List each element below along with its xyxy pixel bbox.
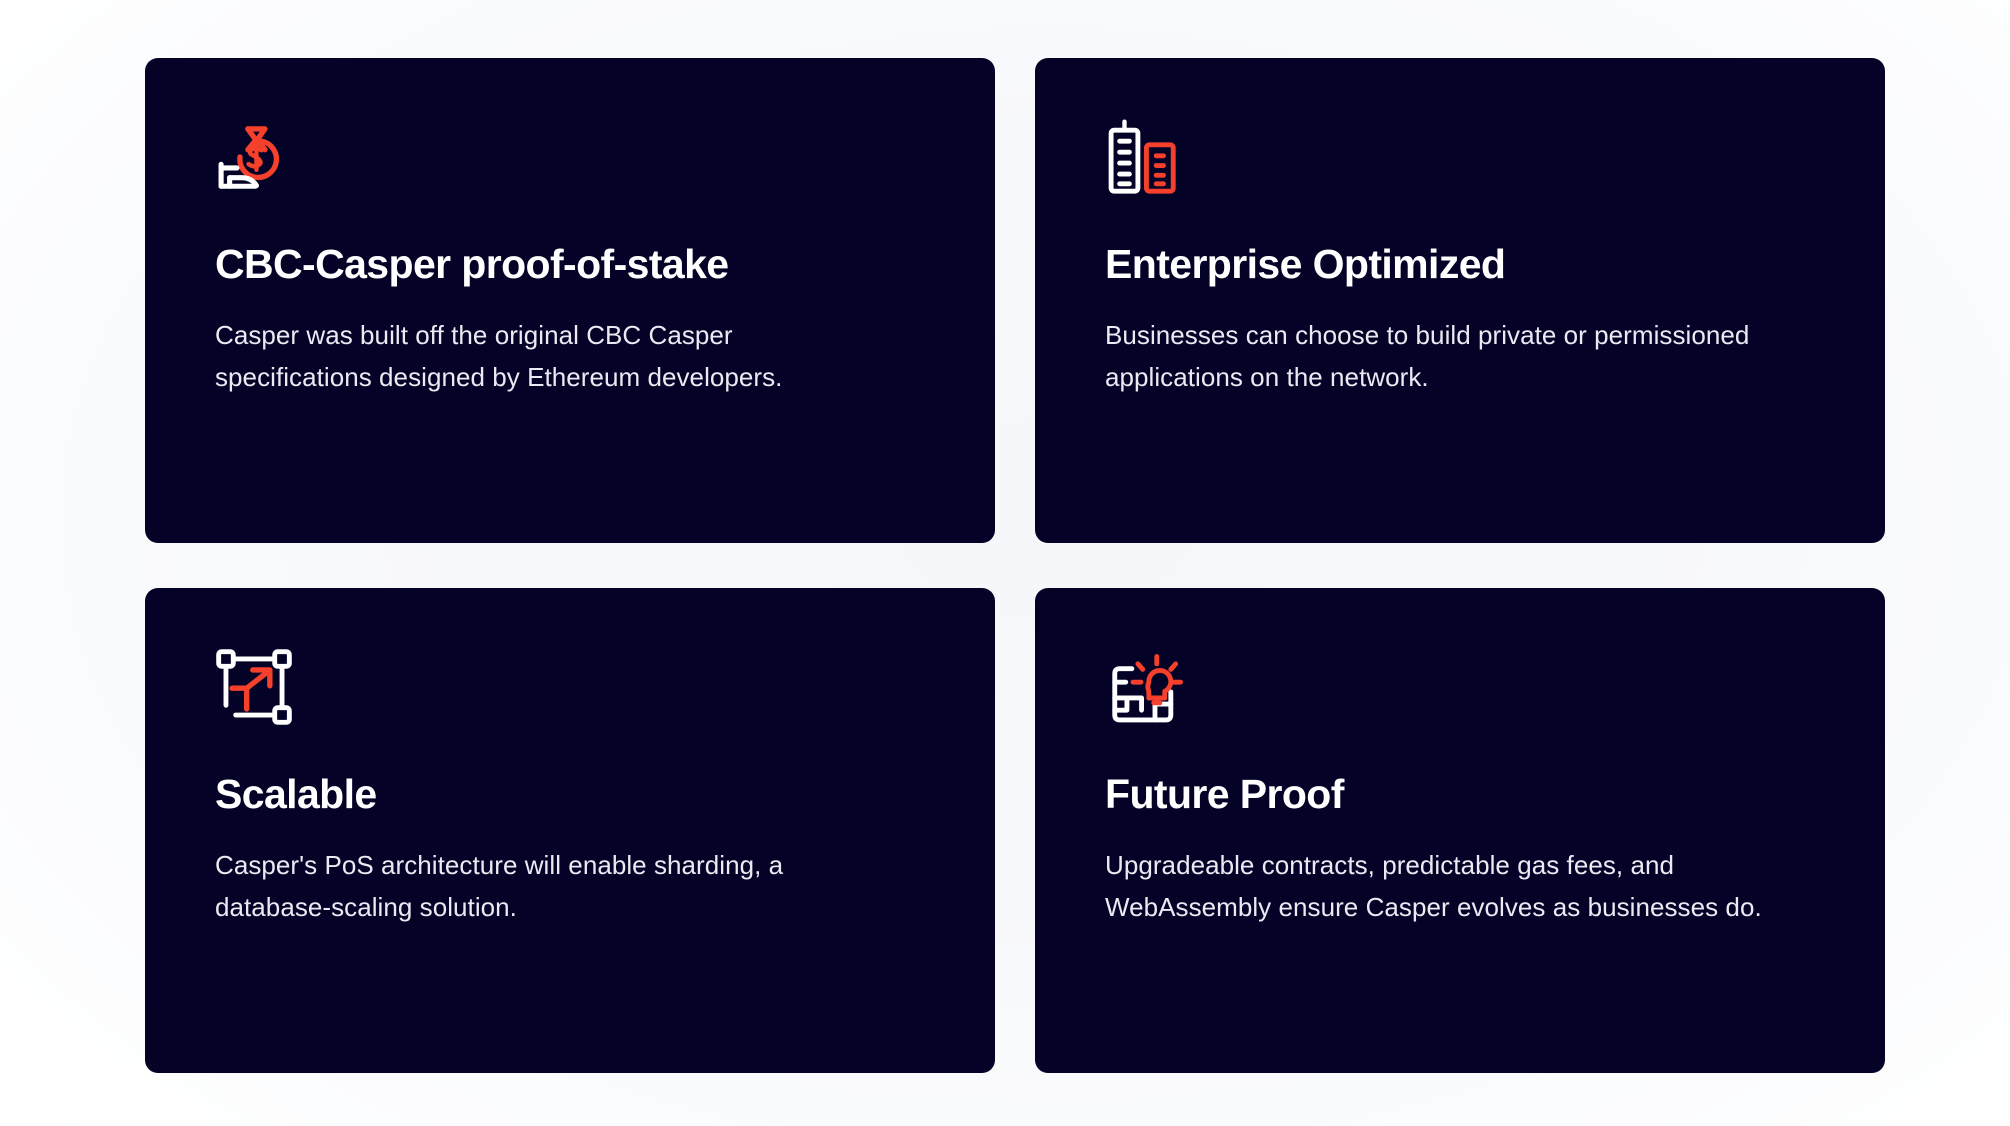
feature-title: Scalable [215,772,925,818]
features-grid: CBC-Casper proof-of-stake Casper was bui… [145,58,1873,1073]
scale-arrow-frame-icon [215,648,293,726]
feature-description: Casper's PoS architecture will enable sh… [215,844,895,928]
feature-title: Enterprise Optimized [1105,242,1815,288]
money-bag-bed-icon [215,118,293,196]
feature-description: Businesses can choose to build private o… [1105,314,1785,398]
feature-card-enterprise-optimized[interactable]: Enterprise Optimized Businesses can choo… [1035,58,1885,543]
feature-title: Future Proof [1105,772,1815,818]
feature-title: CBC-Casper proof-of-stake [215,242,925,288]
feature-card-future-proof[interactable]: Future Proof Upgradeable contracts, pred… [1035,588,1885,1073]
feature-description: Casper was built off the original CBC Ca… [215,314,895,398]
feature-description: Upgradeable contracts, predictable gas f… [1105,844,1815,928]
feature-card-cbc-casper[interactable]: CBC-Casper proof-of-stake Casper was bui… [145,58,995,543]
blueprint-lightbulb-icon [1105,648,1183,726]
office-buildings-icon [1105,118,1183,196]
feature-card-scalable[interactable]: Scalable Casper's PoS architecture will … [145,588,995,1073]
